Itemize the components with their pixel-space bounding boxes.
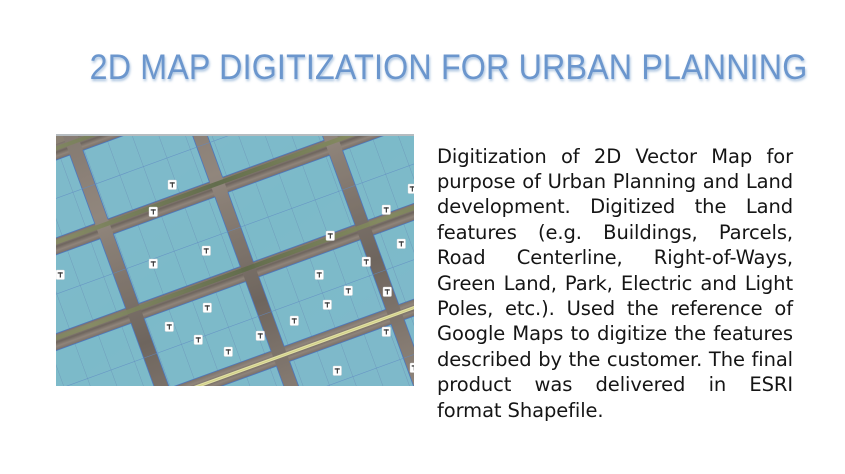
- pole-marker-icon: [290, 316, 299, 326]
- pole-marker-icon: [383, 287, 392, 297]
- pole-marker-icon: [56, 270, 65, 280]
- pole-marker-icon: [408, 184, 414, 194]
- pole-marker-icon: [224, 347, 233, 357]
- pole-marker-icon: [326, 231, 335, 241]
- pole-marker-icon: [256, 331, 265, 341]
- pole-marker-icon: [344, 286, 353, 296]
- pole-marker-icon: [194, 335, 203, 345]
- pole-marker-icon: [315, 270, 324, 280]
- pole-marker-icon: [323, 300, 332, 310]
- pole-marker-icon: [382, 327, 391, 337]
- map-vector-overlay: [56, 136, 414, 386]
- page-title: 2D MAP DIGITIZATION FOR URBAN PLANNING: [90, 46, 771, 90]
- pole-marker-icon: [168, 180, 177, 190]
- pole-marker-icon: [397, 239, 406, 249]
- pole-marker-icon: [149, 207, 158, 217]
- pole-marker-icon: [203, 303, 212, 313]
- description-paragraph: Digitization of 2D Vector Map for purpos…: [437, 144, 793, 423]
- pole-marker-icon: [149, 259, 158, 269]
- pole-marker-icon: [165, 322, 174, 332]
- pole-marker-icon: [382, 205, 391, 215]
- map-image: [56, 134, 414, 386]
- pole-marker-icon: [410, 363, 414, 373]
- pole-marker-icon: [362, 257, 371, 267]
- pole-marker-icon: [333, 366, 342, 376]
- pole-marker-icon: [202, 246, 211, 256]
